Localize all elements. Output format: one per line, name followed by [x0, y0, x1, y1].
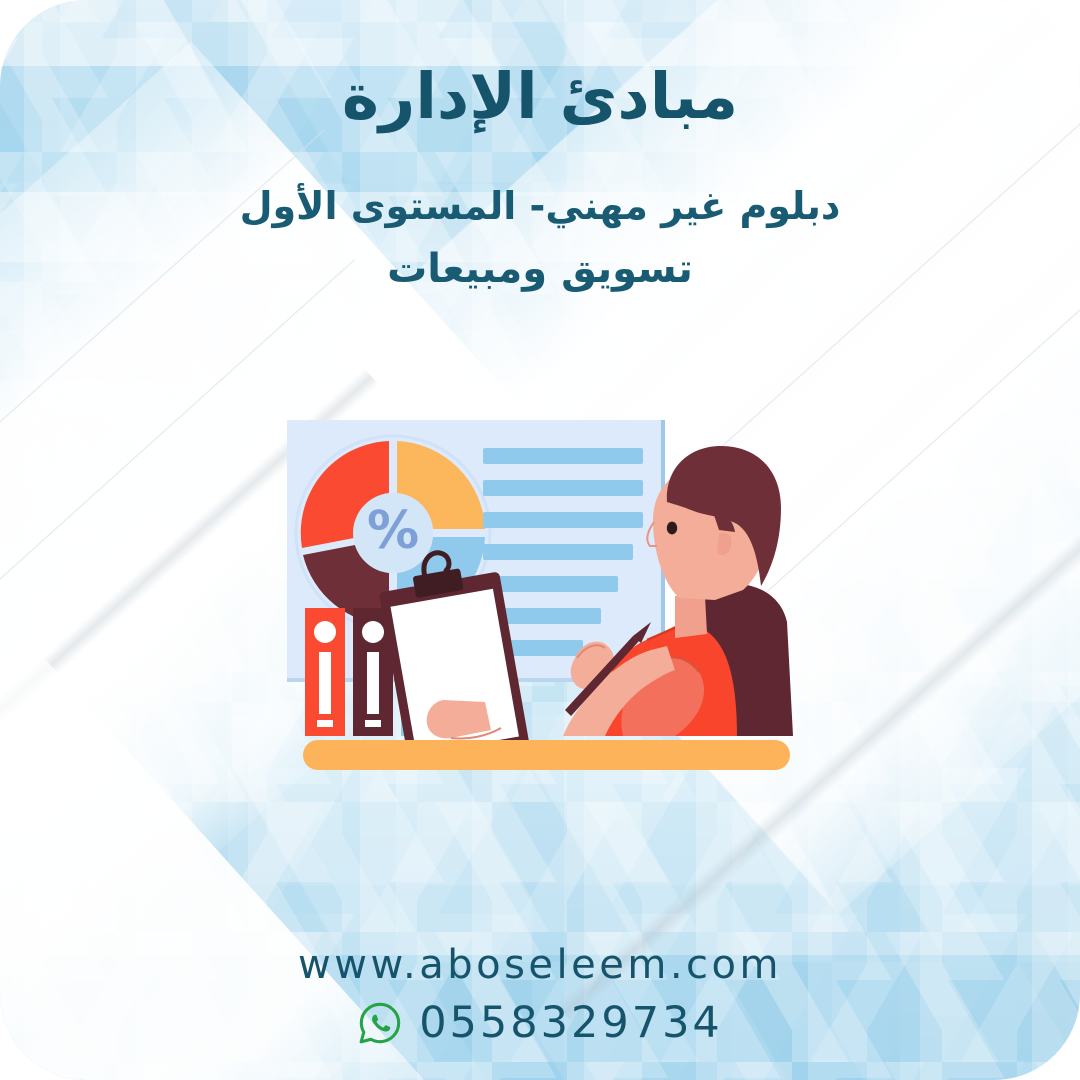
poster-root: مبادئ الإدارة دبلوم غير مهني- المستوى ال…: [0, 0, 1080, 1080]
binder-red: [305, 608, 345, 736]
subtitle-line-1: دبلوم غير مهني- المستوى الأول: [240, 181, 841, 232]
phone-number[interactable]: 0558329734: [419, 998, 723, 1048]
donut-center-label: %: [367, 501, 419, 561]
page-title: مبادئ الإدارة: [342, 62, 738, 133]
desk-shelf: [303, 740, 790, 770]
subtitle-line-2: تسويق ومبيعات: [387, 246, 693, 292]
header-zone: مبادئ الإدارة دبلوم غير مهني- المستوى ال…: [0, 0, 1080, 350]
business-analyst-illustration: %: [275, 400, 815, 790]
whatsapp-icon[interactable]: [357, 1000, 403, 1046]
phone-row[interactable]: 0558329734: [357, 998, 723, 1048]
footer: www.aboseleem.com 0558329734: [0, 942, 1080, 1048]
website-link[interactable]: www.aboseleem.com: [298, 942, 782, 988]
